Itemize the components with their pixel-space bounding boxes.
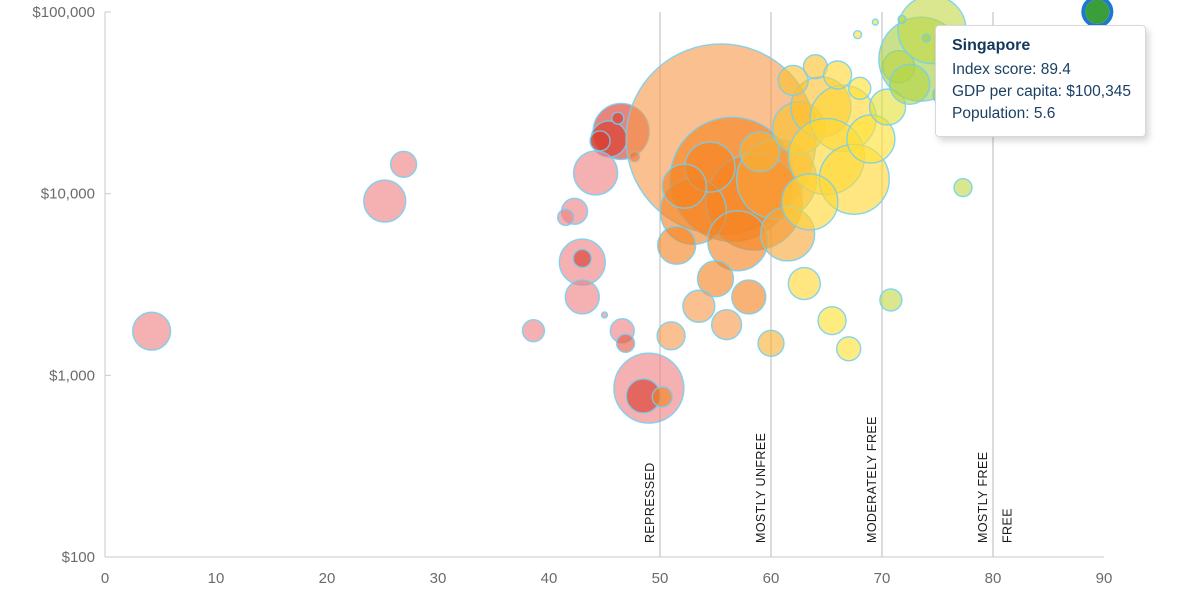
x-tick-label: 10 <box>208 570 225 587</box>
bubble-point[interactable] <box>732 280 766 314</box>
bubble-point[interactable] <box>657 322 685 350</box>
bubble-point[interactable] <box>880 289 902 311</box>
bubble-point[interactable] <box>565 280 599 314</box>
band-label: MOSTLY UNFREE <box>754 433 768 543</box>
bubble-point[interactable] <box>837 337 861 361</box>
bubble-point[interactable] <box>758 330 784 356</box>
band-label: FREE <box>1000 508 1014 543</box>
x-tick-label: 70 <box>874 570 891 587</box>
bubble-point[interactable] <box>872 19 878 25</box>
x-tick-label: 20 <box>319 570 336 587</box>
bubble-chart: $100$1,000$10,000$100,000 01020304050607… <box>0 0 1200 600</box>
bubble-point[interactable] <box>658 226 696 264</box>
bubbles-layer <box>133 0 972 423</box>
x-tick-label: 80 <box>985 570 1002 587</box>
x-tick-label: 90 <box>1096 570 1113 587</box>
bubble-point[interactable] <box>652 387 672 407</box>
bubble-point[interactable] <box>364 180 406 222</box>
bubble-point[interactable] <box>558 209 574 225</box>
bubble-point[interactable] <box>612 112 624 124</box>
x-axis-ticks: 0102030405060708090 <box>101 570 1113 587</box>
bubble-point[interactable] <box>662 164 706 208</box>
bubble-point[interactable] <box>712 310 742 340</box>
bubble-point[interactable] <box>391 151 417 177</box>
bubble-point[interactable] <box>573 249 591 267</box>
bubble-point[interactable] <box>133 312 171 350</box>
bubble-point[interactable] <box>522 320 544 342</box>
bubble-point[interactable] <box>890 64 930 104</box>
bubble-point[interactable] <box>740 132 780 172</box>
tooltip-gdp-per-capita: GDP per capita: $100,345 <box>952 81 1131 103</box>
band-label: MODERATELY FREE <box>865 416 879 543</box>
bubble-point[interactable] <box>574 151 618 195</box>
bubble-point[interactable] <box>683 290 715 322</box>
bubble-point[interactable] <box>824 61 852 89</box>
bubble-point[interactable] <box>788 268 820 300</box>
bubble-point[interactable] <box>954 179 972 197</box>
bubble-point[interactable] <box>922 34 930 42</box>
x-tick-label: 30 <box>430 570 447 587</box>
bubble-point[interactable] <box>617 334 635 352</box>
bubble-point[interactable] <box>849 77 871 99</box>
tooltip-population: Population: 5.6 <box>952 103 1131 125</box>
x-tick-label: 50 <box>652 570 669 587</box>
x-tick-label: 0 <box>101 570 109 587</box>
bubble-point[interactable] <box>898 15 906 23</box>
y-tick-label: $100,000 <box>32 4 95 21</box>
bubble-point[interactable] <box>590 131 610 151</box>
x-tick-label: 40 <box>541 570 558 587</box>
y-tick-label: $100 <box>62 549 95 566</box>
bubble-point[interactable] <box>818 307 846 335</box>
highlight-core[interactable] <box>1085 0 1109 24</box>
bubble-point[interactable] <box>602 312 608 318</box>
tooltip-title: Singapore <box>952 35 1131 57</box>
bubble-point[interactable] <box>854 31 862 39</box>
y-tick-label: $1,000 <box>49 367 95 384</box>
y-tick-label: $10,000 <box>41 186 95 203</box>
band-label: MOSTLY FREE <box>976 452 990 543</box>
tooltip-index-score: Index score: 89.4 <box>952 59 1131 81</box>
bubble-point[interactable] <box>782 174 838 230</box>
tooltip-singapore: Singapore Index score: 89.4 GDP per capi… <box>935 25 1146 137</box>
y-axis-ticks: $100$1,000$10,000$100,000 <box>32 4 111 566</box>
band-labels: REPRESSEDMOSTLY UNFREEMODERATELY FREEMOS… <box>643 416 1014 543</box>
band-label: REPRESSED <box>643 462 657 543</box>
highlight-bubble-singapore[interactable] <box>1083 0 1111 26</box>
x-tick-label: 60 <box>763 570 780 587</box>
